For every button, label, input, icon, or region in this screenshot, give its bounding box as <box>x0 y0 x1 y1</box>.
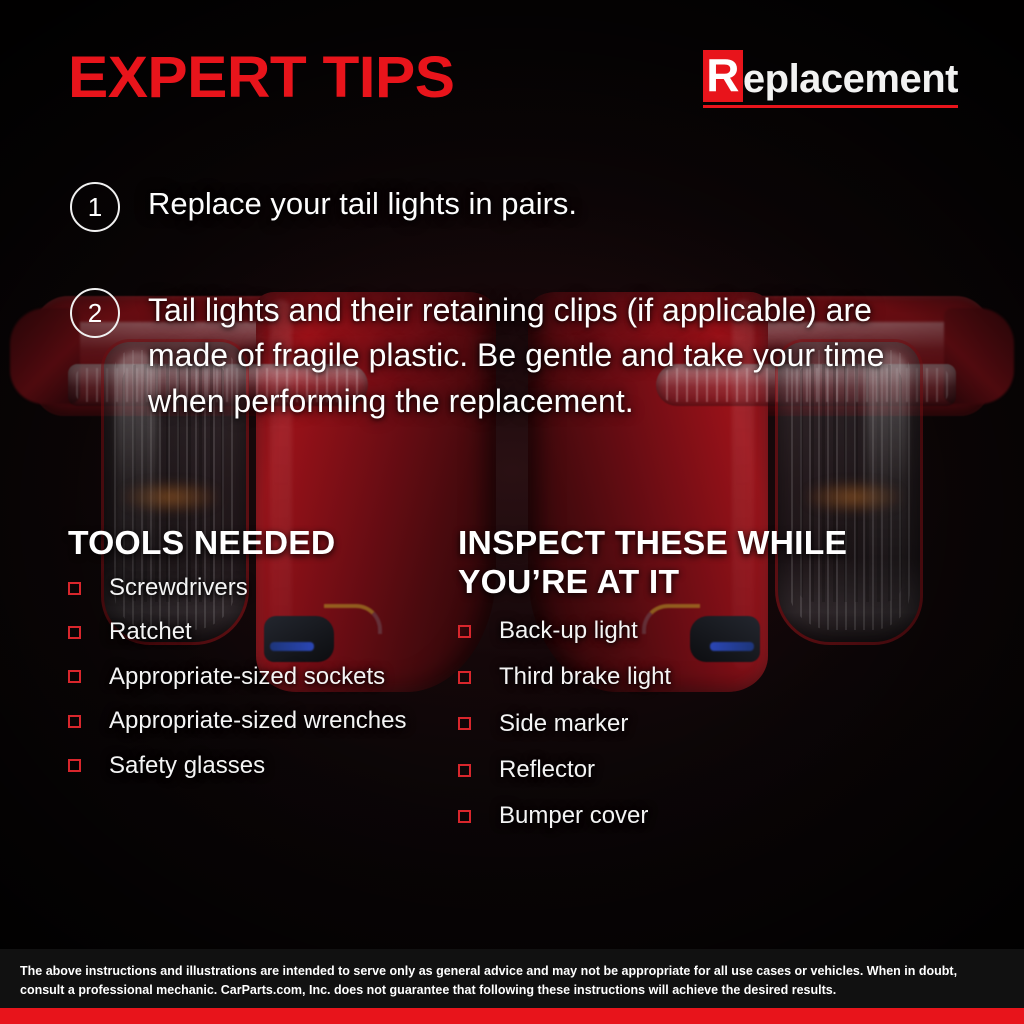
brand-logo-word: eplacement <box>743 59 958 102</box>
brand-logo-initial: R <box>703 50 743 102</box>
checkbox-icon[interactable] <box>458 671 471 684</box>
checkbox-icon[interactable] <box>68 582 81 595</box>
list-item-label: Appropriate-sized wrenches <box>109 708 406 734</box>
list-item[interactable]: Ratchet <box>68 619 458 645</box>
list-item[interactable]: Reflector <box>458 757 878 783</box>
list-item[interactable]: Appropriate-sized wrenches <box>68 708 458 734</box>
list-item-label: Third brake light <box>499 664 671 690</box>
list-item-label: Appropriate-sized sockets <box>109 664 385 690</box>
checkbox-icon[interactable] <box>68 670 81 683</box>
content-layer: EXPERT TIPS R eplacement 1 Replace your … <box>0 0 1024 1024</box>
list-item-label: Reflector <box>499 757 595 783</box>
checkbox-icon[interactable] <box>458 625 471 638</box>
list-item-label: Ratchet <box>109 619 192 645</box>
inspect-these-section: INSPECT THESE WHILE YOU’RE AT IT Back-up… <box>458 524 878 850</box>
tip-number-badge: 1 <box>70 182 120 232</box>
tip-item-2: 2 Tail lights and their retaining clips … <box>70 288 948 424</box>
list-item-label: Side marker <box>499 711 628 737</box>
list-item-label: Back-up light <box>499 618 638 644</box>
brand-logo: R eplacement <box>703 50 958 108</box>
list-item[interactable]: Safety glasses <box>68 753 458 779</box>
footer-red-bar <box>0 1008 1024 1024</box>
checkbox-icon[interactable] <box>458 717 471 730</box>
tools-needed-list: Screwdrivers Ratchet Appropriate-sized s… <box>68 575 458 779</box>
checkbox-icon[interactable] <box>68 759 81 772</box>
list-item[interactable]: Bumper cover <box>458 803 878 829</box>
list-item[interactable]: Screwdrivers <box>68 575 458 601</box>
inspect-these-heading: INSPECT THESE WHILE YOU’RE AT IT <box>458 524 886 602</box>
list-item-label: Screwdrivers <box>109 575 248 601</box>
infographic-canvas: EXPERT TIPS R eplacement 1 Replace your … <box>0 0 1024 1024</box>
list-item[interactable]: Appropriate-sized sockets <box>68 664 458 690</box>
tip-text: Tail lights and their retaining clips (i… <box>148 288 948 424</box>
brand-logo-underline <box>703 105 958 108</box>
tip-item-1: 1 Replace your tail lights in pairs. <box>70 182 577 232</box>
list-item-label: Safety glasses <box>109 753 265 779</box>
list-item[interactable]: Back-up light <box>458 618 878 644</box>
tools-needed-section: TOOLS NEEDED Screwdrivers Ratchet Approp… <box>68 524 458 797</box>
checkbox-icon[interactable] <box>458 764 471 777</box>
list-item[interactable]: Side marker <box>458 711 878 737</box>
disclaimer-text: The above instructions and illustrations… <box>20 962 1004 1001</box>
tip-text: Replace your tail lights in pairs. <box>148 182 577 226</box>
brand-logo-row: R eplacement <box>703 50 958 102</box>
inspect-these-list: Back-up light Third brake light Side mar… <box>458 618 878 830</box>
list-item[interactable]: Third brake light <box>458 664 878 690</box>
list-item-label: Bumper cover <box>499 803 648 829</box>
page-title: EXPERT TIPS <box>68 44 454 111</box>
tools-needed-heading: TOOLS NEEDED <box>68 524 466 563</box>
checkbox-icon[interactable] <box>68 626 81 639</box>
tip-number-badge: 2 <box>70 288 120 338</box>
checkbox-icon[interactable] <box>458 810 471 823</box>
checkbox-icon[interactable] <box>68 715 81 728</box>
footer-disclaimer: The above instructions and illustrations… <box>0 949 1024 1008</box>
